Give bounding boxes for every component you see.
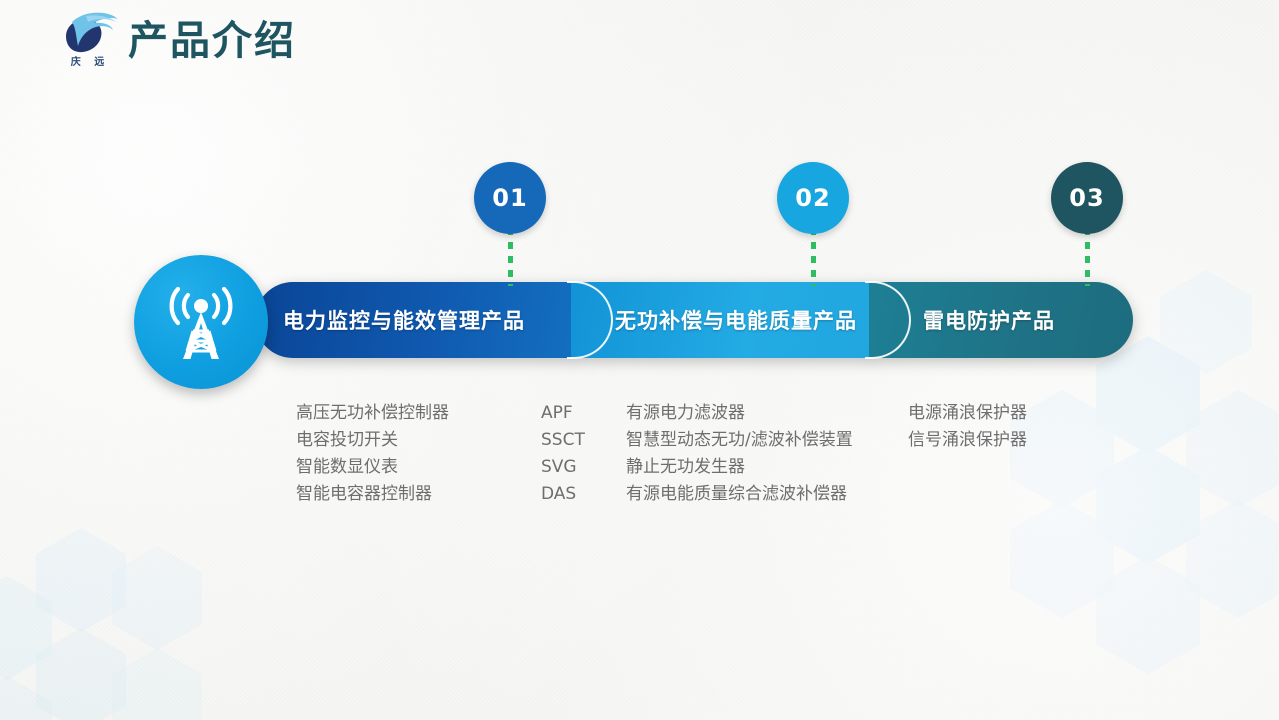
banner-segment-label-1: 电力监控与能效管理产品 [283,305,525,335]
step-number-03: 03 [1069,184,1104,212]
product-abbr: SVG [541,454,626,481]
banner-segment-power-monitoring[interactable]: 电力监控与能效管理产品 [255,282,601,358]
list-item: 信号涌浪保护器 [908,427,1027,454]
broadcast-tower-badge[interactable] [134,255,268,389]
connector-line-02 [811,228,816,286]
list-item: 电容投切开关 [296,427,449,454]
broadcast-tower-icon [157,279,245,365]
product-desc: 静止无功发生器 [626,454,853,481]
list-item: 智能电容器控制器 [296,481,449,508]
product-desc: 智慧型动态无功/滤波补偿装置 [626,427,853,454]
step-badge-03[interactable]: 03 [1051,162,1123,234]
connector-line-01 [508,228,513,286]
list-item: 高压无功补偿控制器 [296,400,449,427]
page-title: 产品介绍 [128,21,296,61]
category-banner: 电力监控与能效管理产品 无功补偿与电能质量产品 雷电防护产品 [255,282,1133,358]
step-badge-02[interactable]: 02 [777,162,849,234]
logo-subtext: 庆 远 [62,53,118,68]
product-list-lightning-protection: 电源涌浪保护器 信号涌浪保护器 [908,400,1027,454]
list-item: 电源涌浪保护器 [908,400,1027,427]
product-list-power-monitoring: 高压无功补偿控制器 电容投切开关 智能数显仪表 智能电容器控制器 [296,400,449,508]
product-abbr: DAS [541,481,626,508]
product-list-reactive-power: APF 有源电力滤波器 SSCT 智慧型动态无功/滤波补偿装置 SVG 静止无功… [541,400,853,508]
step-number-02: 02 [795,184,830,212]
banner-segment-label-2: 无功补偿与电能质量产品 [615,305,857,335]
list-item: SVG 静止无功发生器 [541,454,853,481]
connector-line-03 [1085,228,1090,286]
product-abbr: APF [541,400,626,427]
banner-segment-reactive-power[interactable]: 无功补偿与电能质量产品 [571,282,891,358]
product-desc: 有源电力滤波器 [626,400,853,427]
step-number-01: 01 [492,184,527,212]
list-item: DAS 有源电能质量综合滤波补偿器 [541,481,853,508]
product-desc: 有源电能质量综合滤波补偿器 [626,481,853,508]
list-item: 智能数显仪表 [296,454,449,481]
slide-canvas: 庆 远 产品介绍 01 02 03 电力监控与能效管理产品 无功补偿与电能质量产… [0,0,1279,720]
company-logo: 庆 远 [56,8,122,70]
banner-segment-lightning-protection[interactable]: 雷电防护产品 [869,282,1133,358]
product-abbr: SSCT [541,427,626,454]
banner-segment-label-3: 雷电防护产品 [923,305,1055,335]
list-item: SSCT 智慧型动态无功/滤波补偿装置 [541,427,853,454]
slide-header: 庆 远 产品介绍 [56,8,296,70]
step-badge-01[interactable]: 01 [474,162,546,234]
list-item: APF 有源电力滤波器 [541,400,853,427]
